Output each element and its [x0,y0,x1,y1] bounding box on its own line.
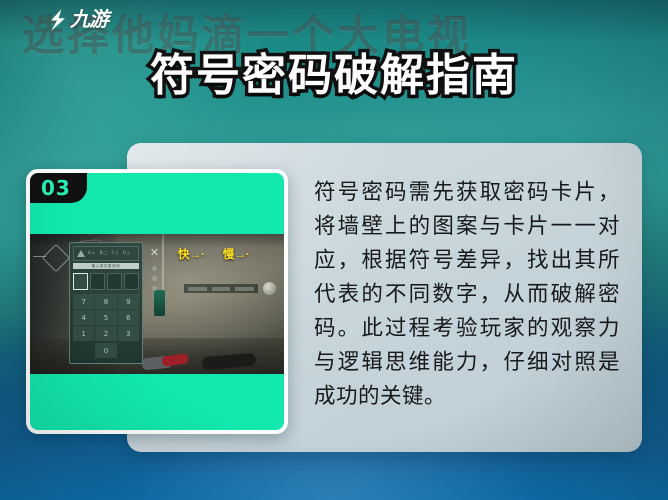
indicator-dot [152,266,157,271]
brand-logo: 九游 [48,8,108,32]
machine-chip [235,287,254,291]
keypad-slot-0[interactable] [73,273,88,290]
keypad-slot-3[interactable] [124,273,139,290]
hint-fast: 快→· [178,246,205,262]
keypad-key-grid: 7 8 9 4 5 6 1 2 3 0 [73,294,139,358]
keypad-header: A◇ B□ C○ D△ [73,246,139,261]
keypad-key-4[interactable]: 4 [73,310,94,325]
screenshot-root: 选择他妈滴一个大电视 九游 符号密码破解指南 符号密码需先获取密码卡片，将墙壁上… [0,0,668,500]
keypad-key-7[interactable]: 7 [73,294,94,309]
keypad-slot-2[interactable] [107,273,122,290]
keypad-key-6[interactable]: 6 [118,310,139,325]
close-icon[interactable]: ✕ [149,248,160,259]
step-number-label: 03 [41,178,71,198]
lightning-bolt-icon [48,8,68,32]
keypad-display: 输入四位数密码 [73,263,139,269]
speed-hint-group: 快→· 慢→· [178,246,250,262]
step-card: 03 [26,169,288,434]
keypad-key-8[interactable]: 8 [95,294,116,309]
screenshot-indicator-dots [152,266,157,291]
indicator-dot [152,276,157,281]
keypad-symbol-hints: A◇ B□ C○ D△ [88,251,131,256]
indicator-dot [152,286,157,291]
keypad-slot-row [73,273,139,290]
brand-logo-text: 九游 [70,10,108,30]
machine-chip [212,287,231,291]
keypad-key-2[interactable]: 2 [95,326,116,341]
step-number-badge: 03 [30,173,87,203]
keypad-key-3[interactable]: 3 [118,326,139,341]
scene-machine-knob [263,282,276,295]
keypad-slot-1[interactable] [90,273,105,290]
keypad-key-9[interactable]: 9 [118,294,139,309]
keypad-key-5[interactable]: 5 [95,310,116,325]
hud-dash-icon [33,256,46,257]
body-paragraph: 符号密码需先获取密码卡片，将墙壁上的图案与卡片一一对应，根据符号差异，找出其所代… [314,176,620,414]
keypad-key-0[interactable]: 0 [95,343,116,358]
triangle-icon [77,250,85,257]
keypad-dialog[interactable]: A◇ B□ C○ D△ 输入四位数密码 7 8 9 4 5 6 [69,242,143,364]
scene-green-box [154,290,165,316]
machine-chip [188,287,207,291]
scene-machine-panel [184,284,258,293]
keypad-key-1[interactable]: 1 [73,326,94,341]
keypad-display-text: 输入四位数密码 [92,264,121,269]
page-title: 符号密码破解指南 [0,52,668,100]
hint-slow: 慢→· [223,246,250,262]
game-screenshot: A◇ B□ C○ D△ 输入四位数密码 7 8 9 4 5 6 [30,234,284,374]
